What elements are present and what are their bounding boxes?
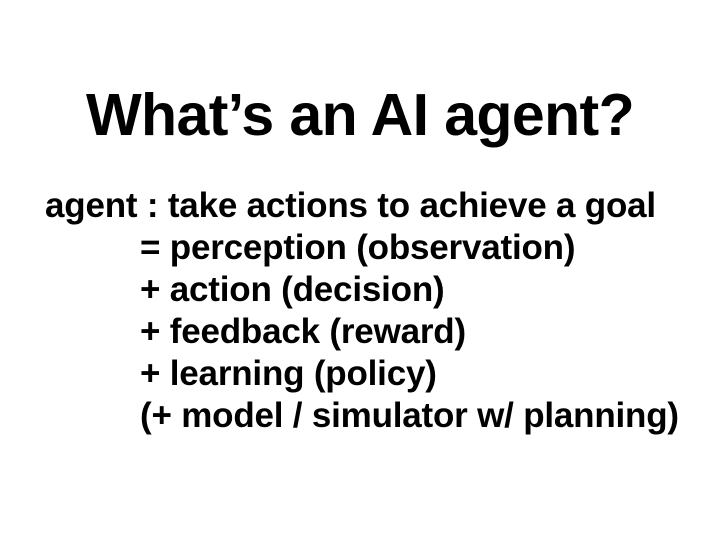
slide-canvas: What’s an AI agent? agent : take actions… (0, 0, 720, 540)
body-line-feedback: + feedback (reward) (45, 311, 705, 353)
body-line-model-simulator: (+ model / simulator w/ planning) (45, 395, 705, 437)
body-line-perception: = perception (observation) (45, 227, 705, 269)
page-title: What’s an AI agent? (0, 84, 720, 147)
body-line-action: + action (decision) (45, 269, 705, 311)
body-line-definition: agent : take actions to achieve a goal (45, 185, 705, 227)
body-line-learning: + learning (policy) (45, 353, 705, 395)
slide-body: agent : take actions to achieve a goal =… (45, 185, 705, 437)
